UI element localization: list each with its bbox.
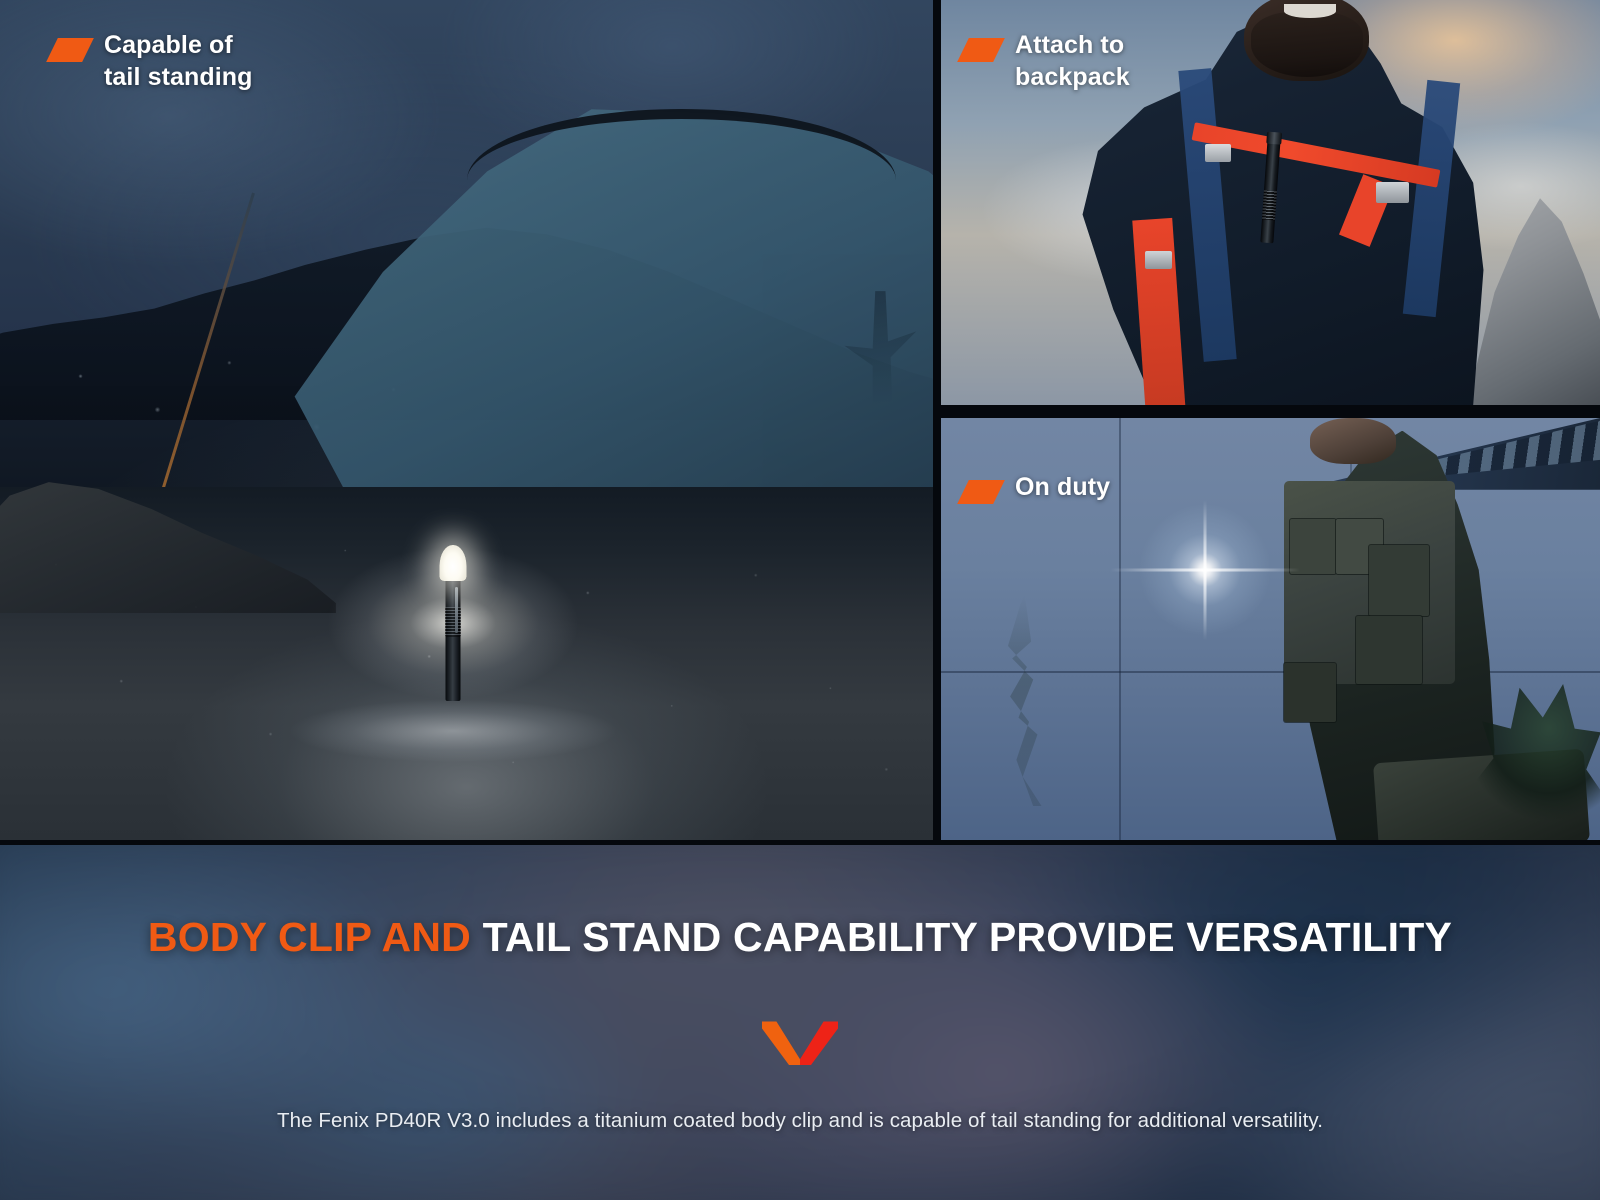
flashlight-body <box>446 579 461 701</box>
orange-slash-marker-icon <box>46 38 94 62</box>
vest-pouch <box>1356 616 1422 684</box>
flashlight-body-clip <box>455 587 458 633</box>
panel-tail-standing <box>0 0 933 840</box>
double-chevron-down-icon <box>762 1021 838 1065</box>
banner-subtitle: The Fenix PD40R V3.0 includes a titanium… <box>277 1109 1323 1133</box>
strap-buckle-lower <box>1145 251 1171 269</box>
banner-heading-accent: BODY CLIP AND <box>148 914 483 960</box>
caption-label: Attach to backpack <box>1015 30 1130 93</box>
hiker-beard <box>1251 12 1363 77</box>
light-pool-on-ground <box>243 691 663 771</box>
photo-collage: Capable of tail standing Attach to backp… <box>0 0 1600 845</box>
orange-slash-marker-icon <box>957 38 1005 62</box>
flashlight-diffuser-head <box>440 545 467 581</box>
vest-pouch <box>1369 545 1428 617</box>
flashlight-head <box>1266 131 1282 144</box>
flashlight-knurling <box>1262 190 1277 220</box>
product-feature-page: Capable of tail standing Attach to backp… <box>0 0 1600 1200</box>
caption-label: Capable of tail standing <box>104 30 253 93</box>
caption-label: On duty <box>1015 472 1110 504</box>
wall-seam-horizontal <box>941 671 1600 673</box>
banner-heading: BODY CLIP AND TAIL STAND CAPABILITY PROV… <box>148 917 1452 958</box>
vest-pouch <box>1290 519 1336 574</box>
caption-on-duty: On duty <box>963 472 1110 504</box>
banner-heading-main: TAIL STAND CAPABILITY PROVIDE VERSATILIT… <box>483 914 1452 960</box>
strap-buckle-side <box>1376 182 1409 202</box>
wall-seam-vertical <box>1119 418 1121 840</box>
feature-banner: BODY CLIP AND TAIL STAND CAPABILITY PROV… <box>0 845 1600 1200</box>
caption-tail-standing: Capable of tail standing <box>52 30 253 93</box>
banner-content: BODY CLIP AND TAIL STAND CAPABILITY PROV… <box>0 845 1600 1200</box>
operator-head <box>1310 418 1396 464</box>
vest-pouch <box>1284 663 1337 722</box>
caption-attach-to-backpack: Attach to backpack <box>963 30 1130 93</box>
chevron-right-half <box>800 1021 838 1065</box>
tent-plant-shadow <box>816 291 933 435</box>
orange-slash-marker-icon <box>957 480 1005 504</box>
strap-buckle-upper <box>1205 144 1231 163</box>
chevron-left-half <box>762 1021 800 1065</box>
flashlight-knurling <box>445 607 461 637</box>
flashlight-tail-standing <box>445 571 461 706</box>
